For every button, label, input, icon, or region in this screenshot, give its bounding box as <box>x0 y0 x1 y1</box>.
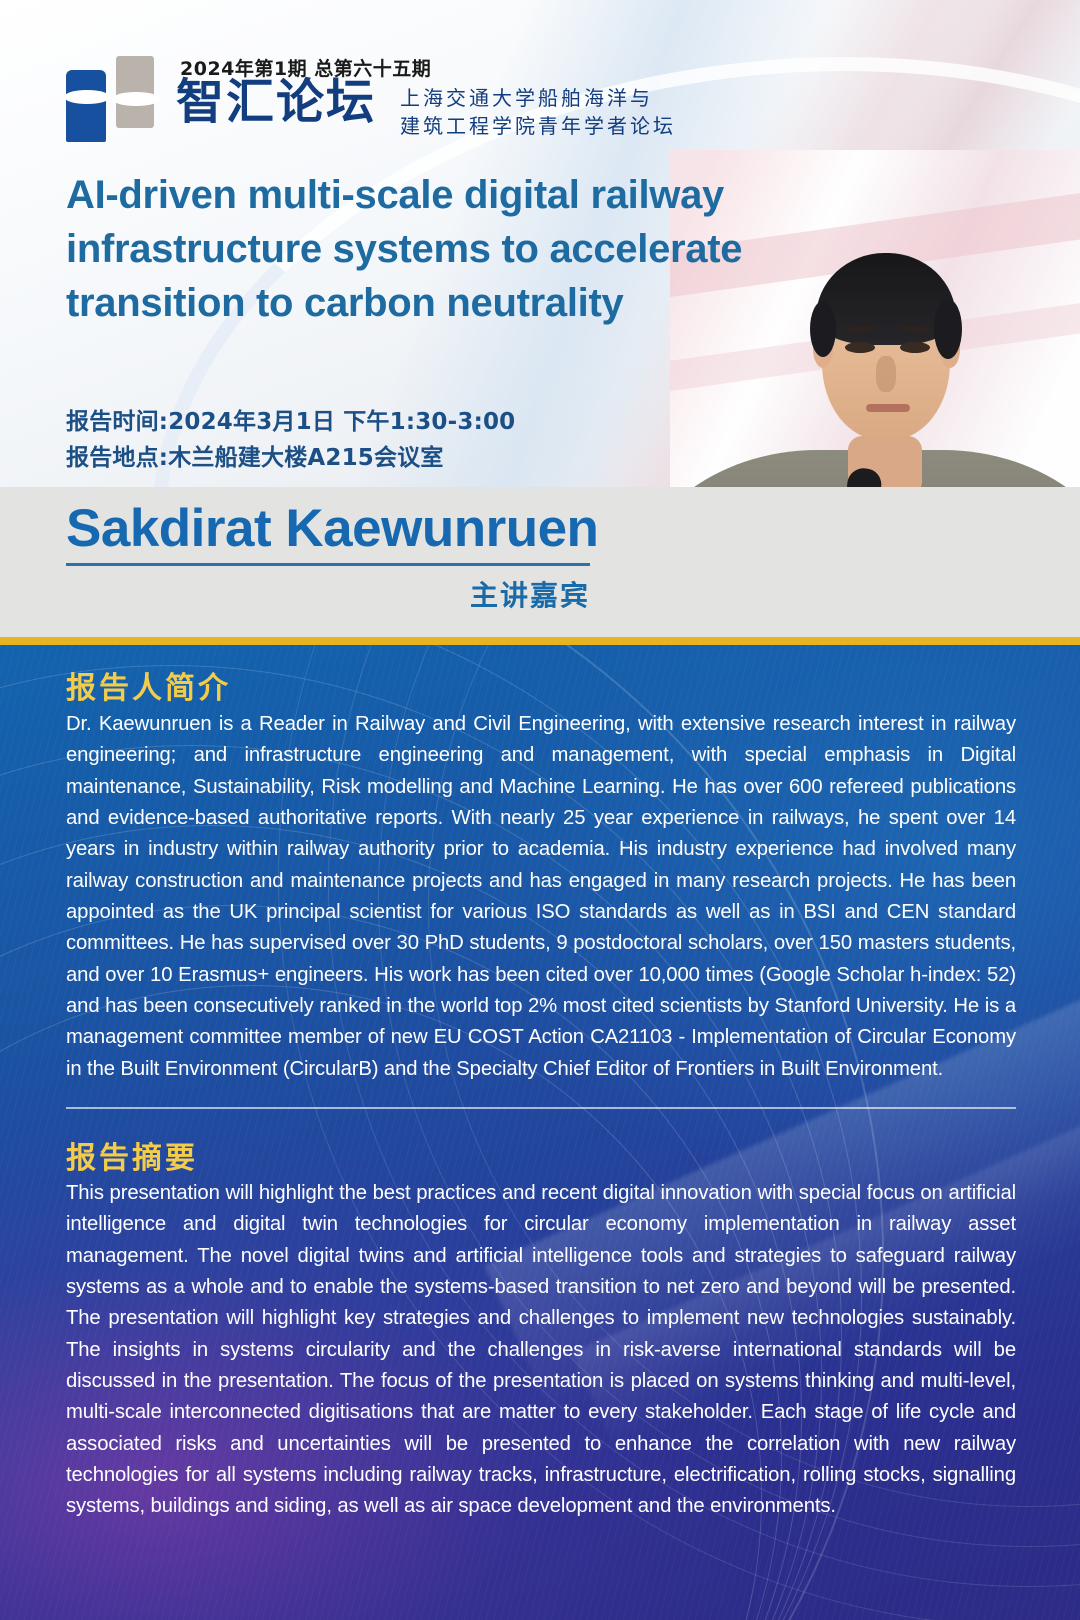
photo-eye-left <box>845 342 875 353</box>
section-divider <box>66 1107 1016 1109</box>
poster-body: 报告人简介 Dr. Kaewunruen is a Reader in Rail… <box>0 645 1080 1620</box>
abstract-text: This presentation will highlight the bes… <box>66 1178 1016 1523</box>
talk-title: AI-driven multi-scale digital railway in… <box>66 168 766 330</box>
photo-mouth <box>866 404 910 412</box>
bio-text: Dr. Kaewunruen is a Reader in Railway an… <box>66 709 1016 1085</box>
logo-blue-block <box>66 70 106 142</box>
seminar-poster: 2024年第1期 总第六十五期 智汇论坛 上海交通大学船舶海洋与 建筑工程学院青… <box>0 0 1080 1620</box>
gold-divider-bar <box>0 637 1080 645</box>
forum-logo-icon <box>66 52 162 144</box>
forum-subtitle-line-1: 上海交通大学船舶海洋与 <box>400 84 676 112</box>
photo-nose <box>876 356 896 392</box>
body-content: 报告人简介 Dr. Kaewunruen is a Reader in Rail… <box>0 645 1080 1620</box>
forum-subtitle: 上海交通大学船舶海洋与 建筑工程学院青年学者论坛 <box>400 84 676 141</box>
speaker-name: Sakdirat Kaewunruen <box>66 498 598 559</box>
speaker-role: 主讲嘉宾 <box>66 574 590 614</box>
forum-brand-name: 智汇论坛 <box>176 78 376 126</box>
logo-grey-block <box>116 56 154 128</box>
talk-time: 报告时间:2024年3月1日 下午1:30-3:00 <box>66 405 515 441</box>
photo-eye-right <box>900 342 930 353</box>
speaker-underline <box>66 563 590 566</box>
talk-meta: 报告时间:2024年3月1日 下午1:30-3:00 报告地点:木兰船建大楼A2… <box>66 405 515 476</box>
forum-subtitle-line-2: 建筑工程学院青年学者论坛 <box>400 112 676 140</box>
talk-location: 报告地点:木兰船建大楼A215会议室 <box>66 441 515 477</box>
abstract-heading: 报告摘要 <box>66 1133 198 1177</box>
bio-heading: 报告人简介 <box>66 663 231 707</box>
poster-header: 2024年第1期 总第六十五期 智汇论坛 上海交通大学船舶海洋与 建筑工程学院青… <box>0 0 1080 645</box>
